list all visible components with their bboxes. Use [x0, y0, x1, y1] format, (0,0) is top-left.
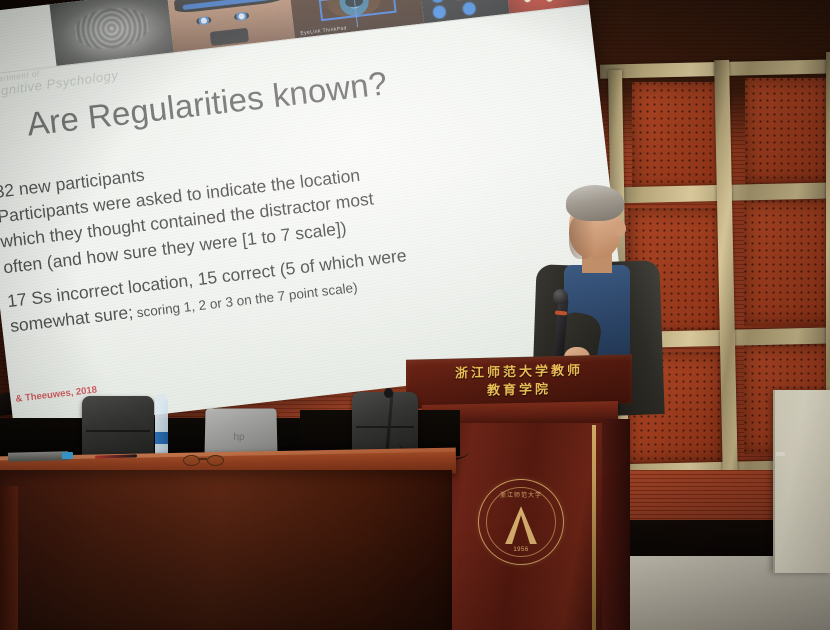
papers: [8, 451, 68, 462]
ear: [615, 221, 626, 236]
hair: [566, 185, 624, 221]
laptop-brand-logo-icon: hp: [232, 432, 246, 444]
bottle-label: [155, 432, 168, 444]
podium-side-right: [600, 419, 630, 630]
eye-shape: [196, 16, 212, 26]
activation-dot: [430, 0, 444, 3]
chin-rest-shape: [210, 28, 249, 46]
fmri-activation-image: [417, 0, 510, 23]
red-eeg-cap-image: [502, 0, 589, 14]
eyeglasses: [183, 455, 223, 465]
nameplate-line-1: 浙江师范大学教师: [455, 363, 583, 384]
nameplate-line-2: 教育学院: [487, 381, 551, 400]
lens: [207, 455, 224, 466]
emblem-chinese-text: 浙江师范大学: [479, 490, 563, 499]
cap-electrode: [524, 0, 532, 3]
side-door[interactable]: [773, 390, 830, 573]
cap-electrode: [546, 0, 554, 2]
chair-seam: [86, 430, 149, 432]
bottle-cap: [156, 394, 167, 401]
activation-dot: [452, 0, 466, 1]
eraser: [62, 452, 73, 459]
face-shadow: [569, 215, 595, 259]
emblem-mountain-shape: [505, 506, 537, 544]
bridge: [198, 458, 207, 460]
table-front-shading: [0, 470, 452, 630]
eye-tracking-image: EyeLink ThinkPad: [288, 0, 424, 38]
gooseneck-microphone-head-icon: [384, 388, 393, 398]
acoustic-panel: [632, 82, 725, 192]
chair: [82, 396, 154, 462]
lens: [183, 455, 200, 466]
university-emblem-icon: 浙江师范大学 1956: [478, 479, 564, 565]
podium-gold-stripe: [592, 425, 596, 630]
emblem-year: 1956: [479, 547, 563, 553]
banner-spacer: [0, 4, 57, 75]
microphone-head-icon: [553, 289, 568, 304]
activation-dot: [462, 1, 476, 15]
acoustic-panel: [744, 200, 830, 326]
eeg-participant-image: [167, 0, 295, 52]
eye-device-label: EyeLink ThinkPad: [300, 25, 347, 36]
table-left-panel: [0, 486, 18, 630]
acoustic-panel: [745, 78, 830, 184]
lecture-hall-photo: EyeLink ThinkPad: [0, 0, 830, 630]
eye-shape: [234, 12, 250, 22]
slide-body-text: 32 new participants Participants were as…: [0, 111, 608, 339]
activation-dot: [432, 5, 446, 19]
water-bottle: [155, 399, 168, 461]
door-handle-icon[interactable]: [776, 452, 785, 456]
podium-nameplate: 浙江师范大学教师 教育学院: [424, 359, 614, 406]
